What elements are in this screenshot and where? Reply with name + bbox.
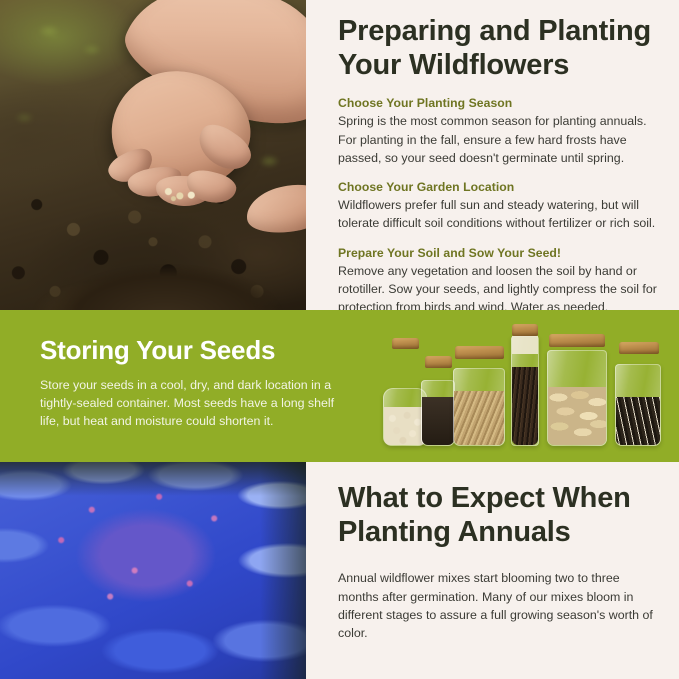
cork-lid-icon <box>392 338 419 349</box>
body-prepare-soil: Remove any vegetation and loosen the soi… <box>338 262 663 317</box>
hand-sowing-seeds-image <box>0 0 306 310</box>
expectations-text-column: What to Expect When Planting Annuals Ann… <box>338 481 663 642</box>
subheading-garden-location: Choose Your Garden Location <box>338 180 663 194</box>
storing-title: Storing Your Seeds <box>40 336 340 365</box>
jar-sunflower-seeds <box>615 364 661 446</box>
blue-cornflower-image <box>0 462 306 679</box>
jar-tall-dark-seeds-contents <box>512 367 538 445</box>
storing-body: Store your seeds in a cool, dry, and dar… <box>40 376 340 431</box>
jar-sunflower-seeds-contents <box>616 397 660 445</box>
jar-dark-seeds <box>421 380 455 446</box>
cork-lid-icon <box>549 334 605 347</box>
expectations-title: What to Expect When Planting Annuals <box>338 481 663 549</box>
expectations-body: Annual wildflower mixes start blooming t… <box>338 569 663 642</box>
section-preparing-and-planting: Preparing and Planting Your Wildflowers … <box>0 0 679 310</box>
block-planting-season: Choose Your Planting Season Spring is th… <box>338 96 663 167</box>
block-prepare-soil: Prepare Your Soil and Sow Your Seed! Rem… <box>338 246 663 317</box>
jar-label <box>512 336 538 354</box>
subheading-planting-season: Choose Your Planting Season <box>338 96 663 110</box>
section-what-to-expect: What to Expect When Planting Annuals Ann… <box>0 462 679 679</box>
jar-dark-seeds-contents <box>422 397 454 445</box>
body-garden-location: Wildflowers prefer full sun and steady w… <box>338 196 663 232</box>
image-right-shadow <box>260 462 306 679</box>
section-storing-your-seeds: Storing Your Seeds Store your seeds in a… <box>0 310 679 462</box>
cork-lid-icon <box>512 324 538 336</box>
jar-white-beans-contents <box>384 407 426 445</box>
cork-lid-icon <box>455 346 504 359</box>
cork-lid-icon <box>425 356 452 368</box>
jar-tan-seeds <box>453 368 505 446</box>
cork-lid-icon <box>619 342 659 354</box>
seed-jars-image <box>383 324 667 446</box>
jar-pumpkin-seeds-contents <box>548 387 606 445</box>
jar-tan-seeds-contents <box>454 391 504 445</box>
infographic-page: Preparing and Planting Your Wildflowers … <box>0 0 679 679</box>
block-garden-location: Choose Your Garden Location Wildflowers … <box>338 180 663 232</box>
jar-pumpkin-seeds <box>547 350 607 446</box>
subheading-prepare-soil: Prepare Your Soil and Sow Your Seed! <box>338 246 663 260</box>
page-title: Preparing and Planting Your Wildflowers <box>338 14 663 82</box>
storing-text-column: Storing Your Seeds Store your seeds in a… <box>40 336 340 430</box>
preparing-text-column: Preparing and Planting Your Wildflowers … <box>338 14 663 316</box>
body-planting-season: Spring is the most common season for pla… <box>338 112 663 167</box>
